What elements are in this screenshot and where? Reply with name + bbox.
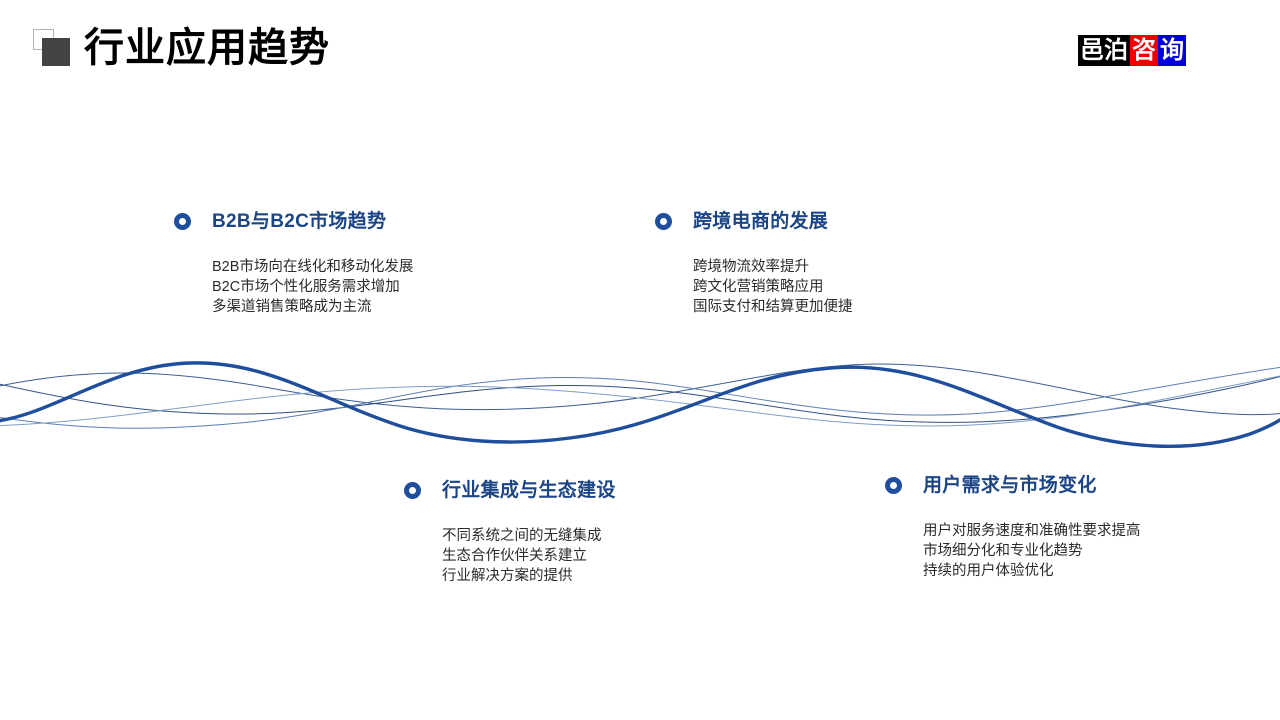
block-title: 行业集成与生态建设 <box>442 475 616 502</box>
ring-bullet-icon <box>404 482 421 499</box>
block-body-line: B2C市场个性化服务需求增加 <box>212 277 413 297</box>
content-block-user-demand: 用户需求与市场变化 用户对服务速度和准确性要求提高 市场细分化和专业化趋势 持续… <box>885 473 1141 581</box>
content-block-b2b-b2c: B2B与B2C市场趋势 B2B市场向在线化和移动化发展 B2C市场个性化服务需求… <box>174 209 413 317</box>
block-body-line: 多渠道销售策略成为主流 <box>212 297 413 317</box>
logo-segment-red: 咨 <box>1130 35 1158 66</box>
block-title: 用户需求与市场变化 <box>923 470 1097 497</box>
block-body-line: 跨境物流效率提升 <box>693 257 853 277</box>
stacked-squares-icon <box>33 29 79 75</box>
ring-bullet-icon <box>655 213 672 230</box>
block-body-line: 持续的用户体验优化 <box>923 561 1141 581</box>
wave-thick-line <box>0 363 1280 447</box>
block-title: 跨境电商的发展 <box>693 206 828 233</box>
block-body-line: 生态合作伙伴关系建立 <box>442 546 602 566</box>
content-block-integration: 行业集成与生态建设 不同系统之间的无缝集成 生态合作伙伴关系建立 行业解决方案的… <box>404 478 602 586</box>
block-body-line: 行业解决方案的提供 <box>442 566 602 586</box>
wave-thin-line-a <box>0 364 1280 415</box>
block-body-line: 不同系统之间的无缝集成 <box>442 526 602 546</box>
block-header: B2B与B2C市场趋势 <box>174 209 413 239</box>
brand-logo: 邑泊 咨 询 <box>1078 35 1186 66</box>
wave-thin-line-d <box>0 374 1280 426</box>
block-title: B2B与B2C市场趋势 <box>212 206 386 233</box>
block-header: 行业集成与生态建设 <box>404 478 602 508</box>
wave-thin-line-c <box>0 366 1280 428</box>
logo-segment-black: 邑泊 <box>1078 35 1130 66</box>
ring-bullet-icon <box>885 477 902 494</box>
slide-header: 行业应用趋势 邑泊 咨 询 <box>0 0 1280 100</box>
page-title: 行业应用趋势 <box>84 21 330 75</box>
block-body-line: 用户对服务速度和准确性要求提高 <box>923 521 1141 541</box>
block-body-line: 国际支付和结算更加便捷 <box>693 297 853 317</box>
block-header: 跨境电商的发展 <box>655 209 853 239</box>
block-body-line: 跨文化营销策略应用 <box>693 277 853 297</box>
wave-decoration <box>0 330 1280 470</box>
wave-thin-line-b <box>0 374 1280 422</box>
block-header: 用户需求与市场变化 <box>885 473 1141 503</box>
block-body-line: 市场细分化和专业化趋势 <box>923 541 1141 561</box>
block-body: 不同系统之间的无缝集成 生态合作伙伴关系建立 行业解决方案的提供 <box>442 526 602 586</box>
ring-bullet-icon <box>174 213 191 230</box>
block-body: 跨境物流效率提升 跨文化营销策略应用 国际支付和结算更加便捷 <box>693 257 853 317</box>
square-filled-shape <box>42 38 70 66</box>
logo-segment-blue: 询 <box>1158 35 1186 66</box>
content-block-cross-border: 跨境电商的发展 跨境物流效率提升 跨文化营销策略应用 国际支付和结算更加便捷 <box>655 209 853 317</box>
block-body: 用户对服务速度和准确性要求提高 市场细分化和专业化趋势 持续的用户体验优化 <box>923 521 1141 581</box>
block-body-line: B2B市场向在线化和移动化发展 <box>212 257 413 277</box>
block-body: B2B市场向在线化和移动化发展 B2C市场个性化服务需求增加 多渠道销售策略成为… <box>212 257 413 317</box>
